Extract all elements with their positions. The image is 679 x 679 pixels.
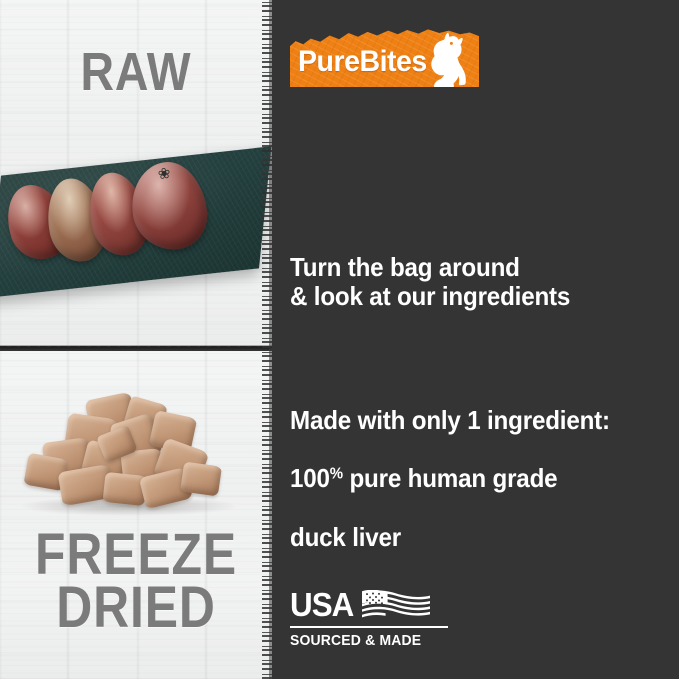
- purebites-logo[interactable]: PureBites: [290, 25, 479, 87]
- product-info-graphic: RAW ❀: [0, 0, 679, 679]
- usa-row: USA: [290, 588, 460, 622]
- panel-divider-horizontal: [0, 345, 272, 350]
- usa-waving-flag-icon: [362, 590, 440, 618]
- slate-speckle-mark: ❀: [157, 165, 179, 184]
- logo-wordmark: PureBites: [298, 47, 422, 77]
- ingredient-line-1: Made with only 1 ingredient:: [290, 405, 610, 435]
- headline-turn-bag-around: Turn the bag around & look at our ingred…: [290, 253, 662, 311]
- usa-divider-rule: [290, 626, 448, 628]
- usa-subtitle: SOURCED & MADE: [290, 633, 421, 649]
- torn-edge-vertical: [262, 0, 272, 679]
- percent-sign: %: [330, 465, 343, 483]
- ingredient-line-3: duck liver: [290, 522, 401, 552]
- sitting-dog-icon: [426, 32, 474, 87]
- freeze-dried-label: FREEZE DRIED: [19, 528, 253, 635]
- left-photo-column: RAW ❀: [0, 0, 272, 679]
- raw-label: RAW: [19, 48, 253, 98]
- ingredient-line-2-rest: pure human grade: [343, 463, 557, 493]
- usa-sourced-made-badge: USA: [290, 588, 460, 652]
- freeze-dried-chunk: [180, 462, 222, 497]
- headline-ingredient-claim: Made with only 1 ingredient: 100% pure h…: [290, 377, 662, 552]
- freeze-dried-photo: [4, 392, 264, 532]
- ingredient-percent-number: 100: [290, 463, 330, 493]
- raw-liver-photo: ❀: [0, 126, 272, 316]
- usa-wordmark: USA: [290, 588, 353, 621]
- right-content-column: PureBites Turn the bag around & look at …: [272, 0, 679, 679]
